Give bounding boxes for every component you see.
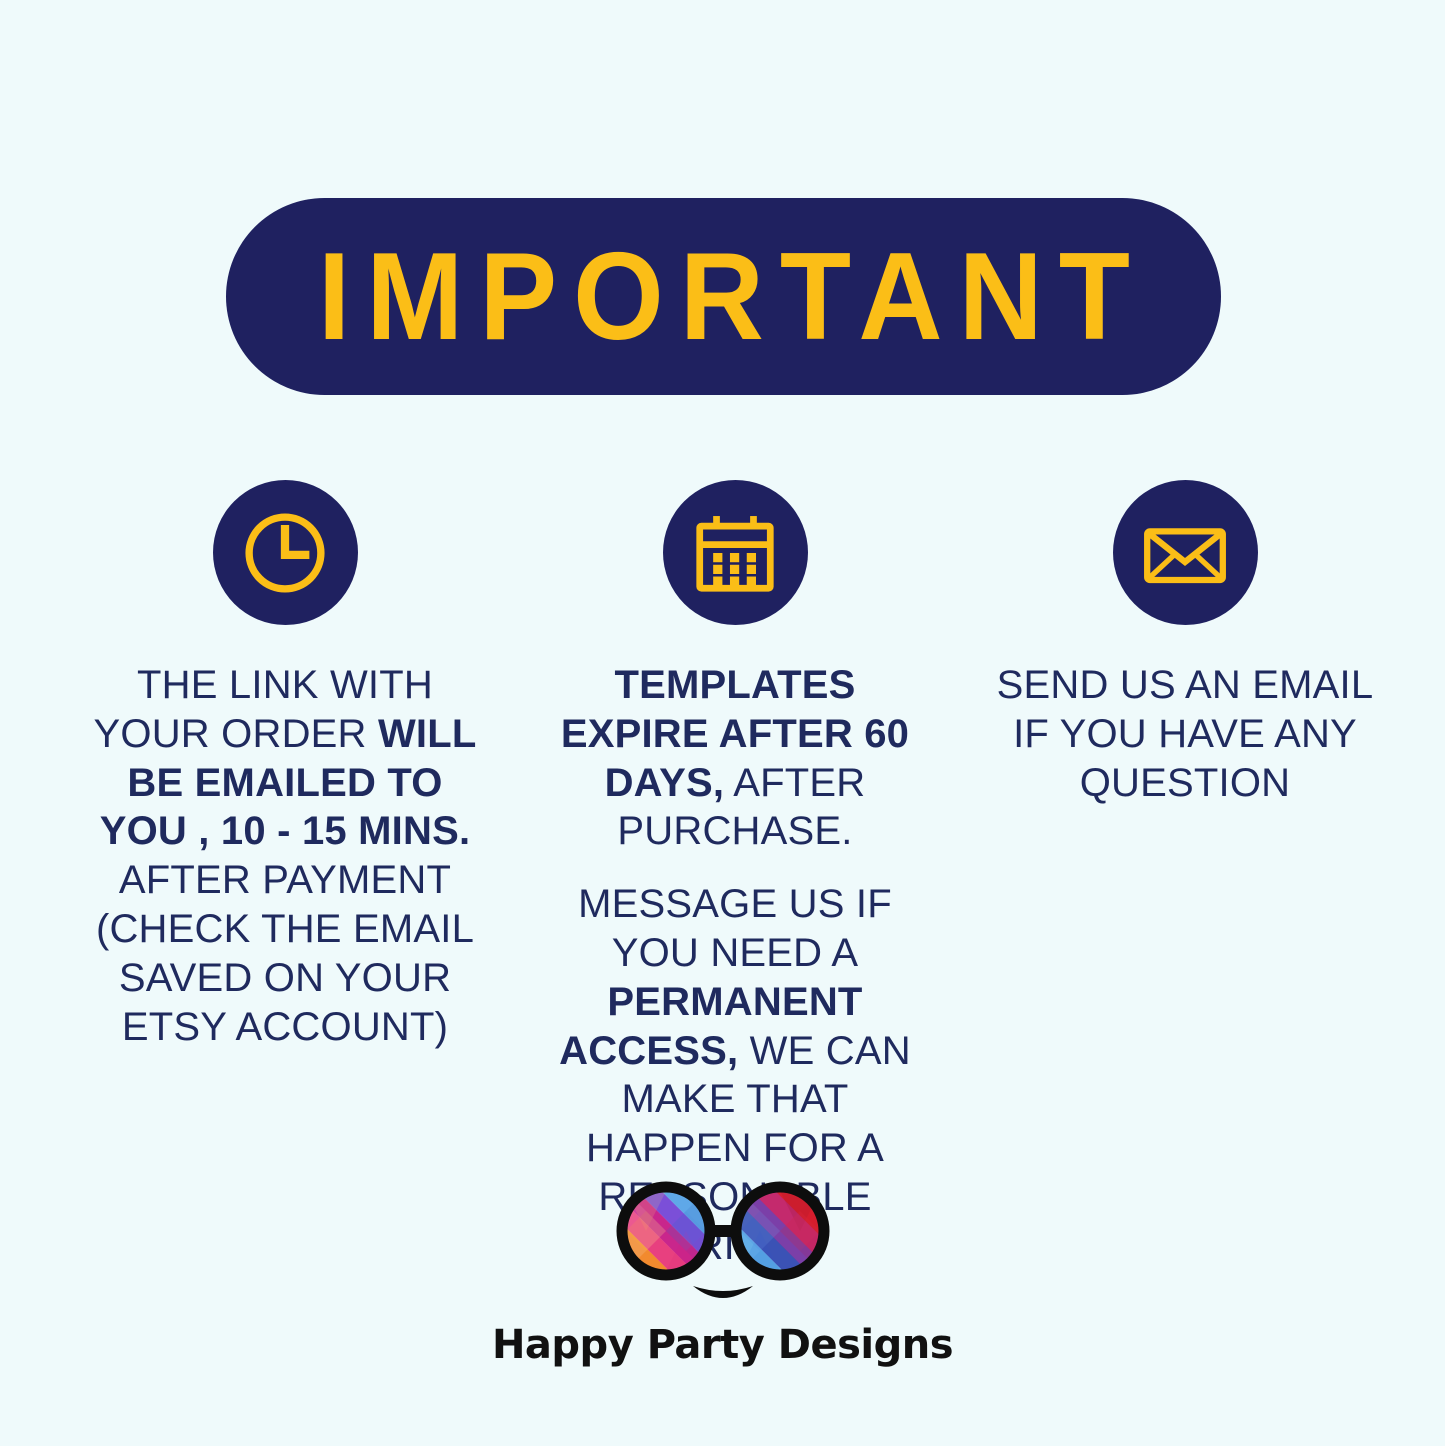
info-column-delivery-text: THE LINK WITH YOUR ORDER WILL BE EMAILED… xyxy=(85,661,485,1051)
body-text: SEND US AN EMAIL IF YOU HAVE ANY QUESTIO… xyxy=(997,663,1374,805)
info-paragraph: SEND US AN EMAIL IF YOU HAVE ANY QUESTIO… xyxy=(985,661,1385,807)
info-column-contact: SEND US AN EMAIL IF YOU HAVE ANY QUESTIO… xyxy=(960,480,1410,1271)
info-column-delivery: THE LINK WITH YOUR ORDER WILL BE EMAILED… xyxy=(60,480,510,1271)
glasses-smile-logo xyxy=(593,1178,853,1308)
info-paragraph: THE LINK WITH YOUR ORDER WILL BE EMAILED… xyxy=(85,661,485,1051)
info-paragraph: TEMPLATES EXPIRE AFTER 60 DAYS, AFTER PU… xyxy=(540,661,930,856)
body-text: AFTER PAYMENT (CHECK THE EMAIL SAVED ON … xyxy=(96,858,474,1048)
page-title: IMPORTANT xyxy=(302,235,1146,359)
important-banner: IMPORTANT xyxy=(226,198,1221,395)
brand-name: Happy Party Designs xyxy=(492,1322,953,1368)
info-columns: THE LINK WITH YOUR ORDER WILL BE EMAILED… xyxy=(0,480,1445,1271)
clock-icon xyxy=(213,480,358,625)
calendar-icon xyxy=(663,480,808,625)
brand-logo: Happy Party Designs xyxy=(0,1178,1445,1368)
envelope-icon xyxy=(1113,480,1258,625)
info-column-contact-text: SEND US AN EMAIL IF YOU HAVE ANY QUESTIO… xyxy=(985,661,1385,807)
info-column-expiry: TEMPLATES EXPIRE AFTER 60 DAYS, AFTER PU… xyxy=(510,480,960,1271)
body-text: MESSAGE US IF YOU NEED A xyxy=(578,882,892,975)
